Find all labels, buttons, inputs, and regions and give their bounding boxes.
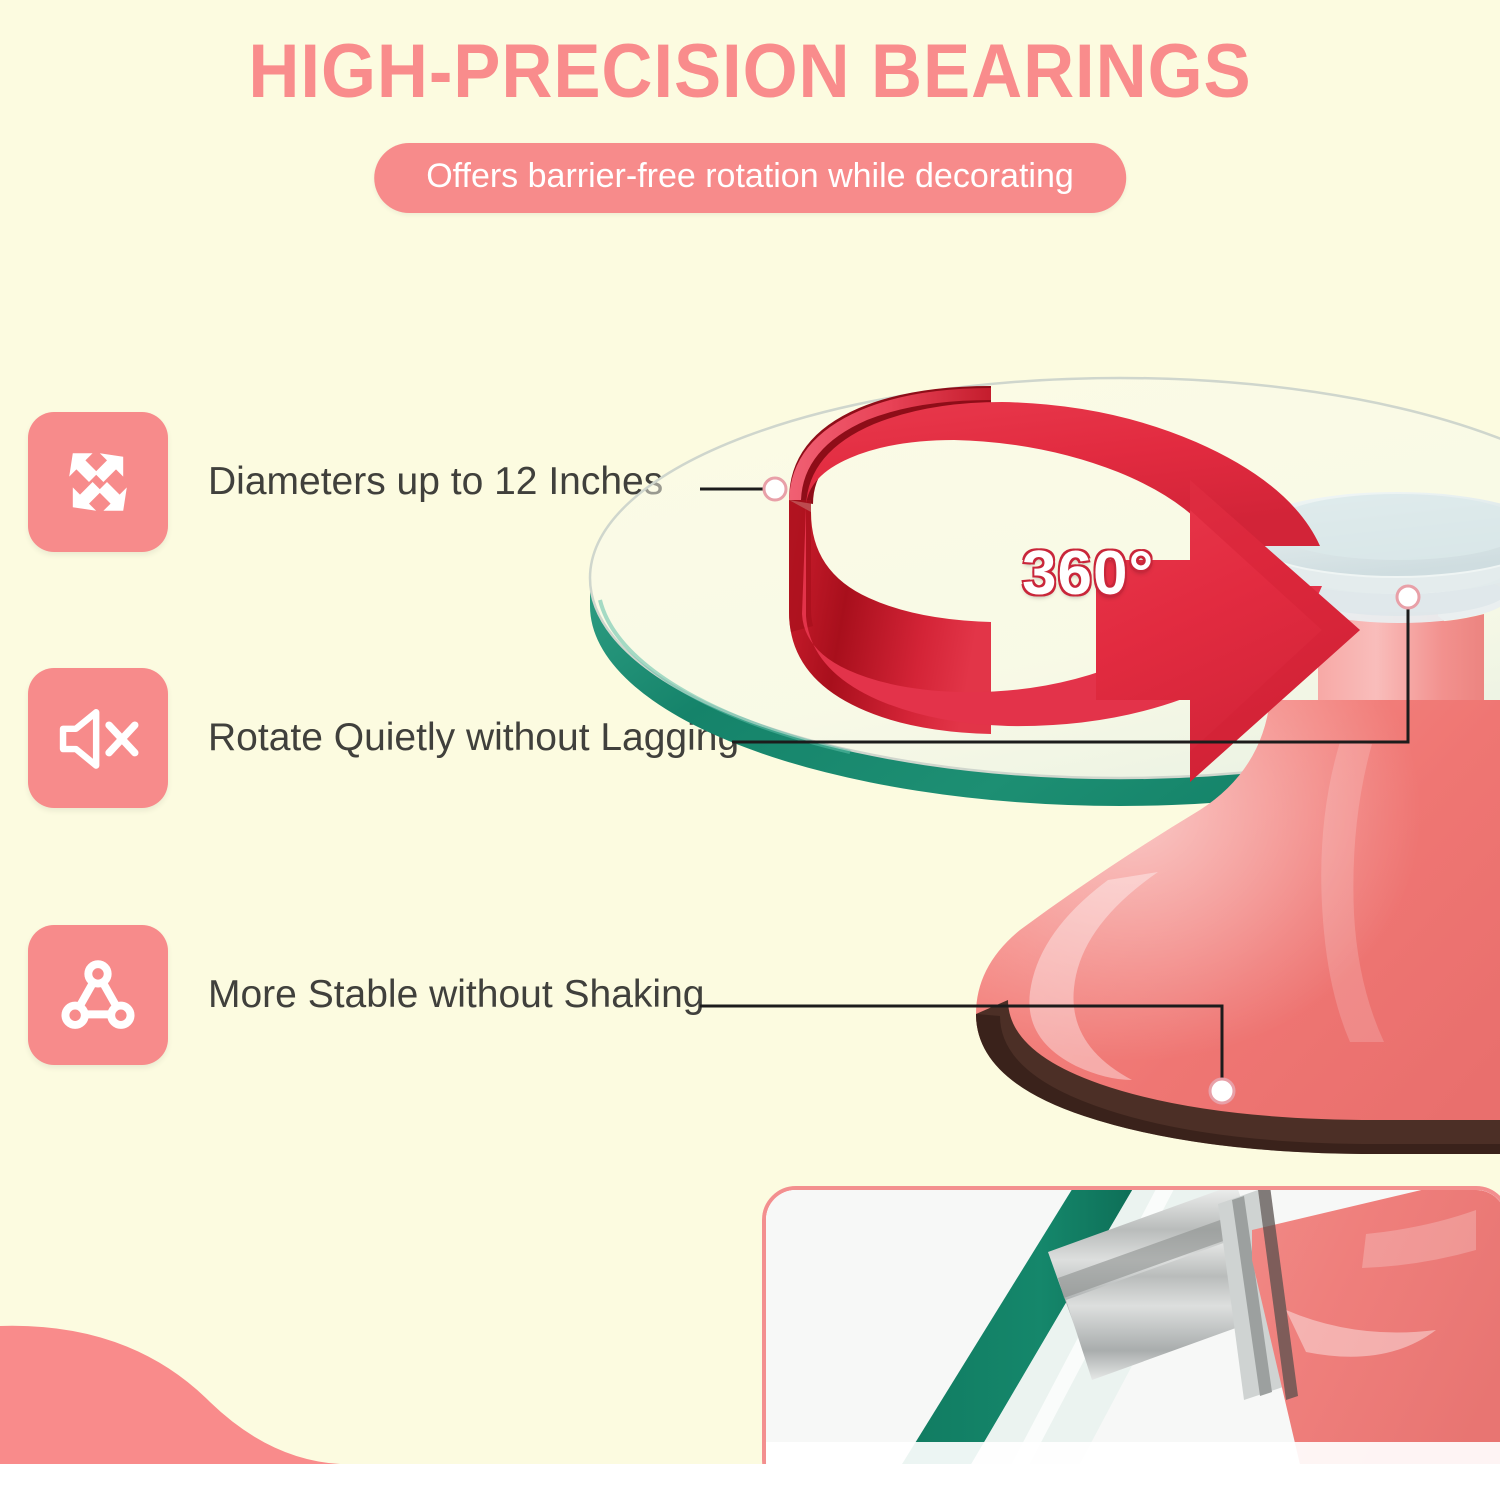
infographic-canvas: HIGH-PRECISION BEARINGS Offers barrier-f…	[0, 0, 1500, 1500]
rotation-badge-360: 360°	[1022, 538, 1154, 609]
bearing-closeup-inset	[762, 1186, 1500, 1494]
bottom-white-strip	[0, 1464, 1500, 1500]
decorative-corner-wave	[0, 1240, 430, 1500]
bearing-closeup-image	[766, 1190, 1500, 1490]
